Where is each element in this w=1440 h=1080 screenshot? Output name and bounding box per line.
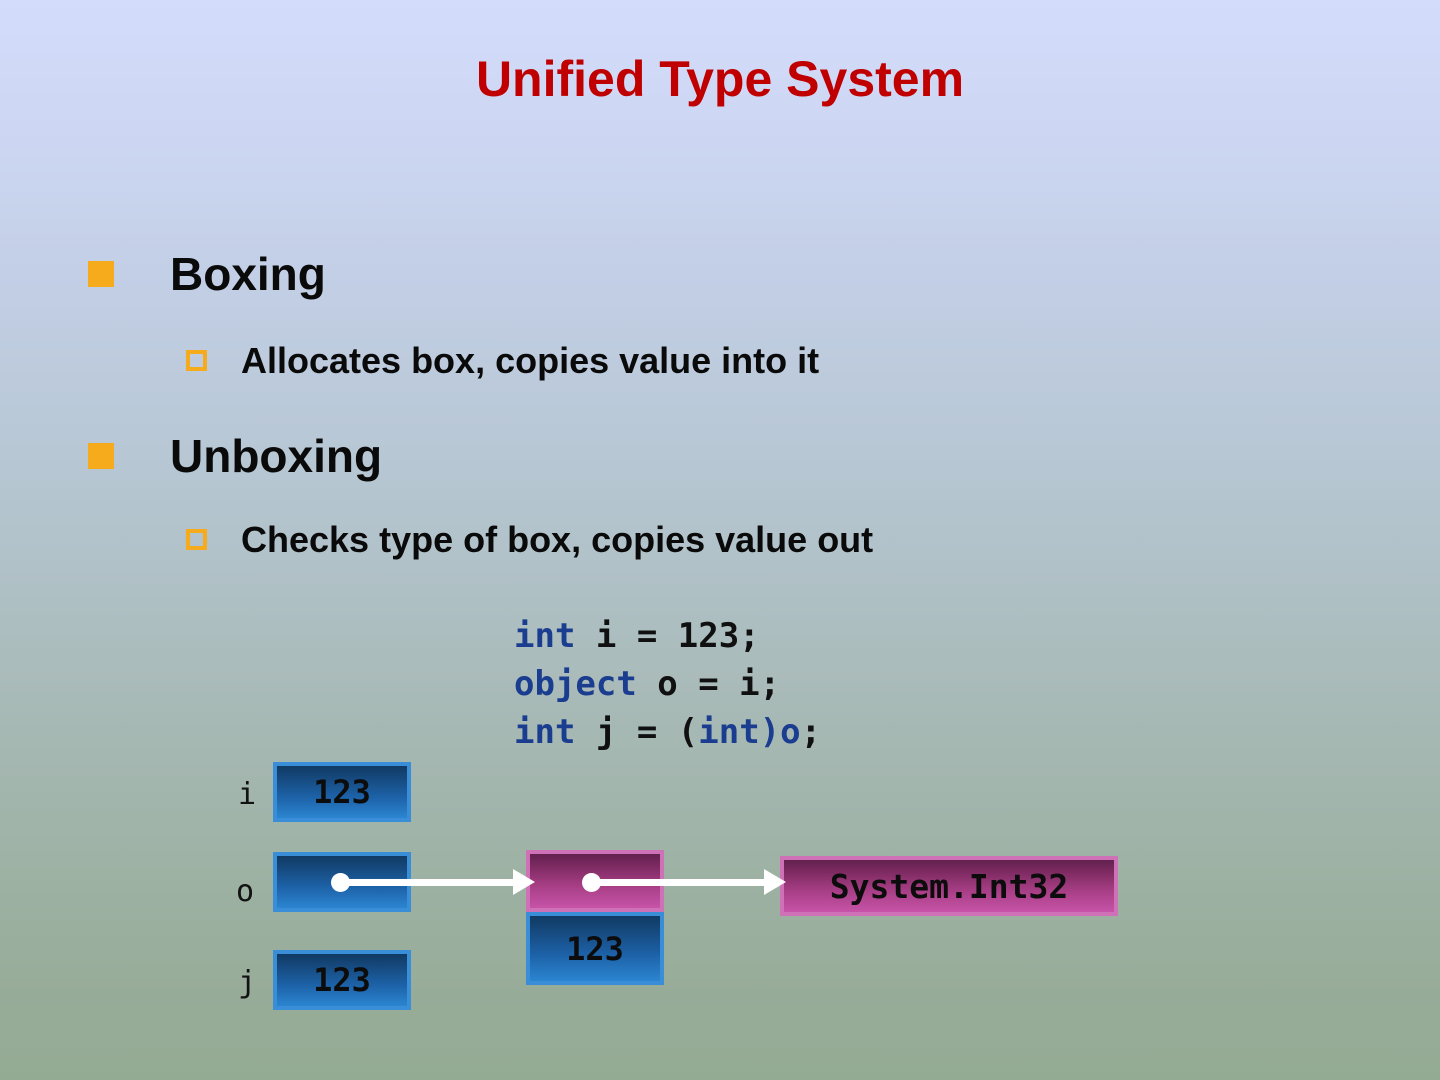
variable-label-i: i bbox=[238, 780, 256, 810]
arrow-heap-to-type-head-icon bbox=[764, 869, 786, 895]
variable-label-j: j bbox=[238, 968, 256, 998]
variable-label-o: o bbox=[236, 877, 254, 907]
type-object-box: System.Int32 bbox=[780, 856, 1118, 916]
stack-box-j: 123 bbox=[273, 950, 411, 1010]
arrow-o-to-heap-origin-dot bbox=[331, 873, 350, 892]
arrow-o-to-heap-line bbox=[344, 879, 519, 886]
stack-box-i: 123 bbox=[273, 762, 411, 822]
arrow-o-to-heap-head-icon bbox=[513, 869, 535, 895]
arrow-heap-to-type-line bbox=[596, 879, 771, 886]
arrow-heap-to-type-origin-dot bbox=[582, 873, 601, 892]
slide-canvas: Unified Type System Boxing Allocates box… bbox=[0, 0, 1440, 1080]
boxing-diagram: i o j 123 123 123 System.Int32 bbox=[0, 0, 1440, 1080]
heap-box-value: 123 bbox=[526, 912, 664, 985]
